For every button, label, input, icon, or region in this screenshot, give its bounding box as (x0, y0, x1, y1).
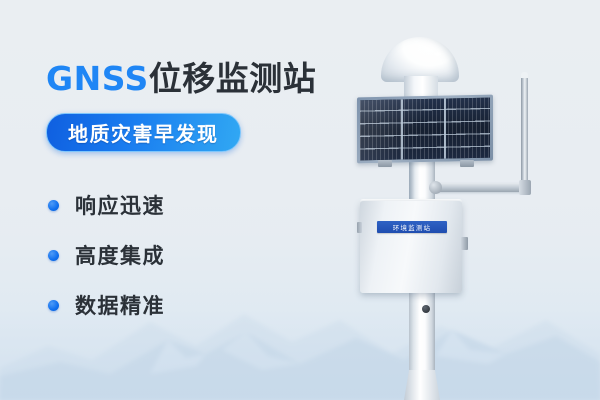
feature-list: 响应迅速 高度集成 数据精准 (48, 180, 165, 330)
arm-hinge-outer (519, 180, 531, 195)
pole-foot (404, 370, 440, 400)
antenna-rod-cap (521, 72, 528, 78)
tagline-badge-label: 地质灾害早发现 (68, 118, 219, 147)
panel-bracket-left (378, 160, 392, 167)
enclosure-label-text: 环境监测站 (393, 222, 432, 232)
list-item: 高度集成 (48, 230, 165, 280)
solar-cells (360, 98, 490, 161)
equipment-enclosure (360, 201, 462, 293)
pole-bolt (422, 305, 430, 313)
list-item: 响应迅速 (48, 180, 165, 230)
arm-hinge-inner (429, 181, 442, 194)
solar-panel (357, 95, 493, 164)
dome-neck (404, 76, 438, 98)
antenna-rod (521, 75, 528, 190)
promo-banner: 环境监测站 GNSS位移监测站 地质灾害早发现 响应迅速 高度集成 数据精准 (0, 0, 600, 400)
enclosure-latch-right (461, 237, 468, 250)
dome-highlight (434, 52, 441, 56)
title-rest: 位移监测站 (149, 59, 317, 98)
enclosure-latch-left (357, 222, 362, 233)
tagline-badge: 地质灾害早发现 (46, 113, 241, 152)
feature-label: 数据精准 (75, 290, 165, 320)
enclosure-label: 环境监测站 (377, 221, 447, 233)
bullet-dot-icon (48, 250, 59, 261)
bullet-dot-icon (48, 200, 59, 211)
list-item: 数据精准 (48, 280, 165, 330)
feature-label: 响应迅速 (75, 190, 165, 220)
panel-bracket-right (460, 160, 474, 167)
mounting-arm (434, 183, 529, 192)
title-highlight: GNSS (46, 59, 149, 98)
page-title: GNSS位移监测站 (46, 52, 316, 100)
bullet-dot-icon (48, 300, 59, 311)
feature-label: 高度集成 (75, 240, 165, 270)
